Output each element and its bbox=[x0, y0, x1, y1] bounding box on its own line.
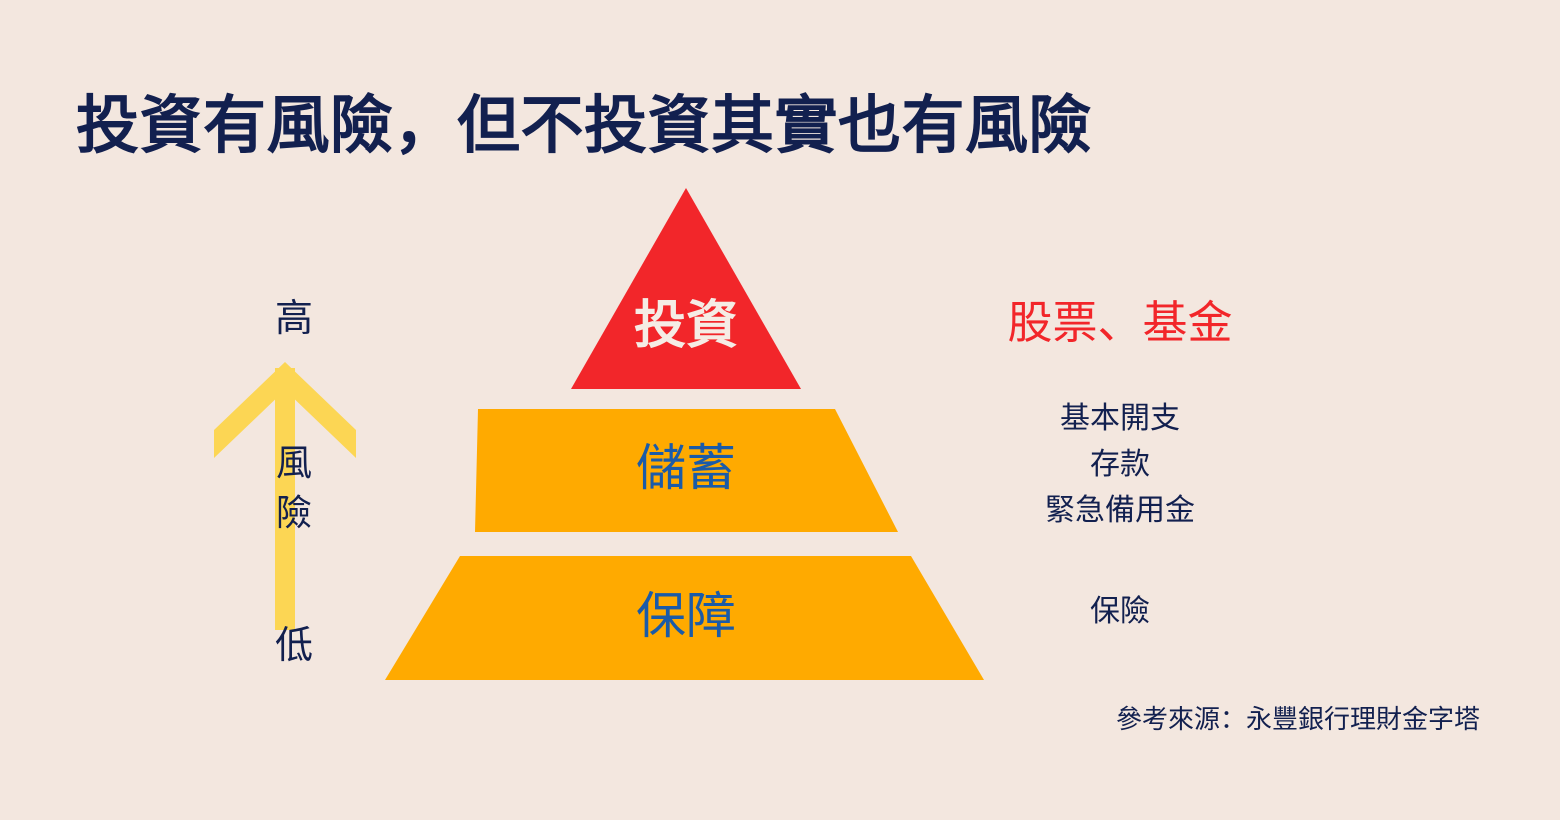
risk-axis-low-label: 低 bbox=[214, 625, 374, 667]
annotation-protection: 保險 bbox=[960, 590, 1280, 634]
annotation-investment: 股票、基金 bbox=[950, 296, 1290, 350]
page-title: 投資有風險，但不投資其實也有風險 bbox=[76, 88, 1476, 164]
pyramid-tier-investment-label: 投資 bbox=[566, 298, 806, 354]
annotation-savings-line-3: 緊急備用金 bbox=[960, 488, 1280, 534]
annotation-savings: 基本開支 存款 緊急備用金 bbox=[960, 396, 1280, 534]
risk-axis-title: 風 險 bbox=[214, 438, 374, 538]
risk-axis-title-char-2: 險 bbox=[214, 488, 374, 538]
infographic-canvas: 投資有風險，但不投資其實也有風險 高 風 險 低 投資 儲蓄 保障 股票、基金 … bbox=[0, 0, 1560, 820]
risk-axis: 高 風 險 低 bbox=[214, 280, 374, 680]
risk-axis-high-label: 高 bbox=[214, 298, 374, 340]
source-note: 參考來源：永豐銀行理財金字塔 bbox=[1000, 702, 1480, 736]
pyramid-tier-protection-label: 保障 bbox=[546, 588, 826, 644]
annotation-savings-line-1: 基本開支 bbox=[960, 396, 1280, 442]
pyramid-tier-savings-label: 儲蓄 bbox=[546, 440, 826, 496]
pyramid-tier-investment-shape bbox=[571, 188, 801, 389]
risk-axis-title-char-1: 風 bbox=[214, 438, 374, 488]
annotation-savings-line-2: 存款 bbox=[960, 442, 1280, 488]
